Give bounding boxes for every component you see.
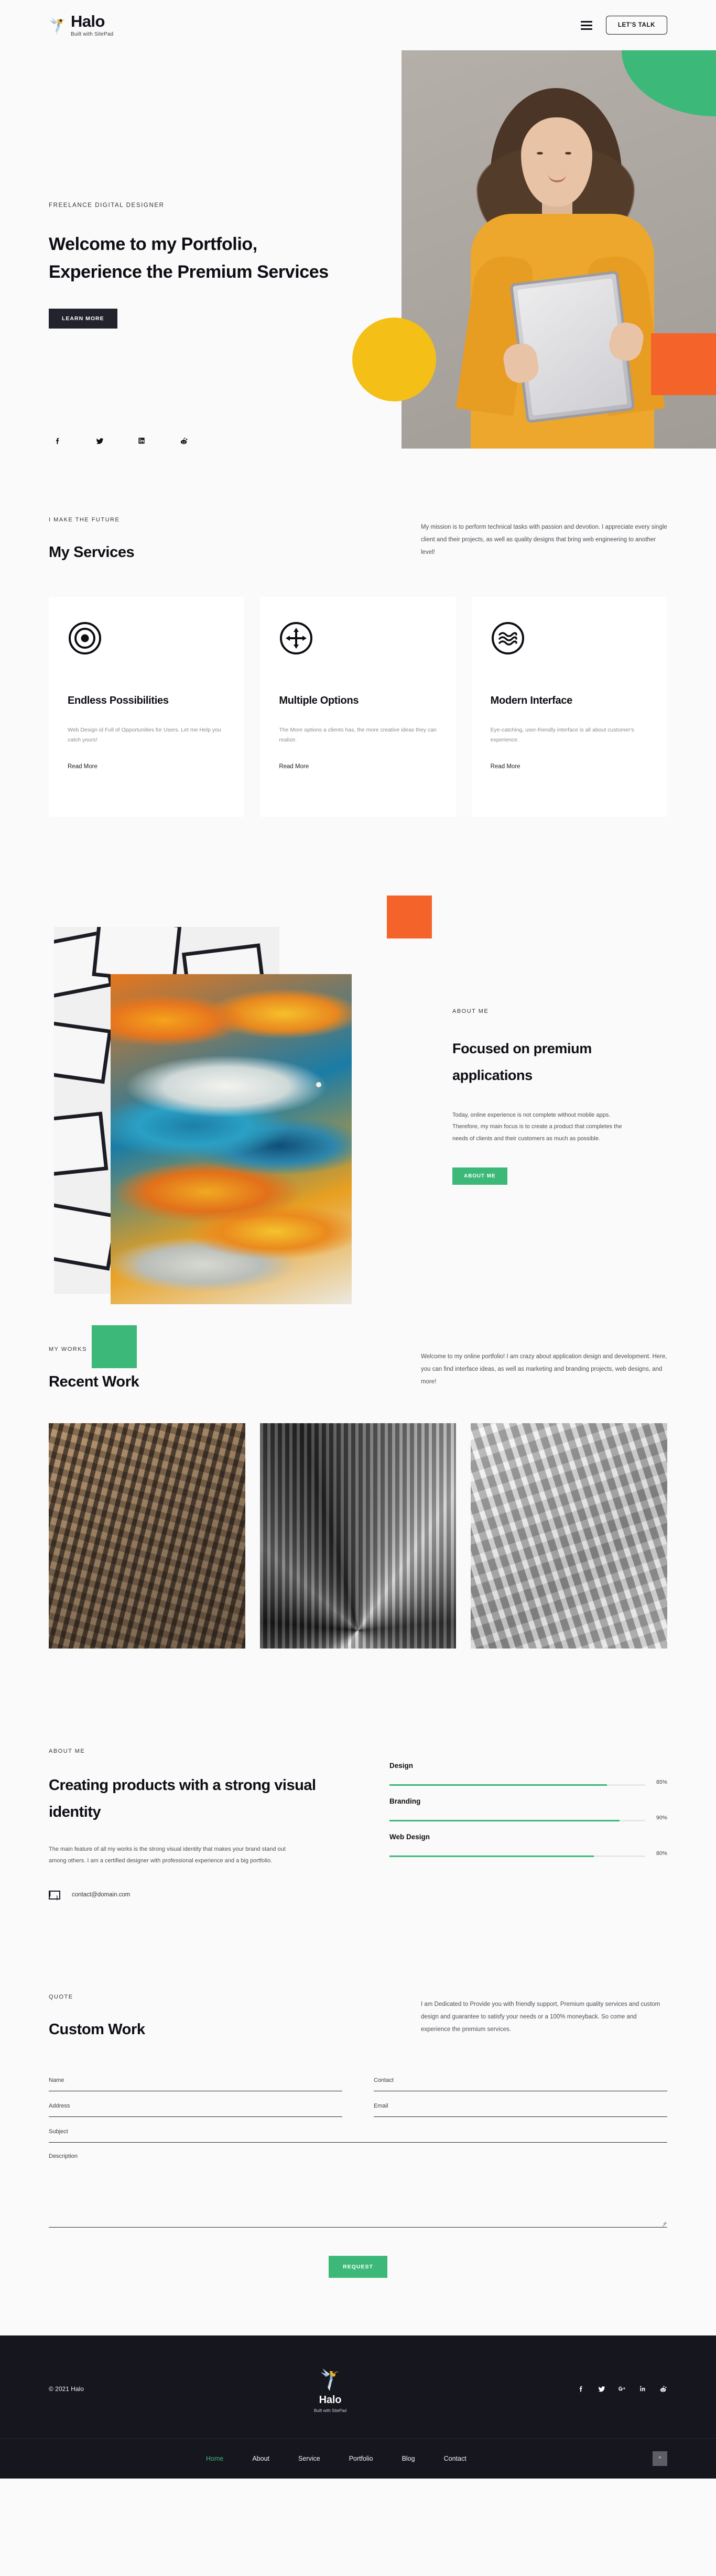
about-title: Focused on premium applications xyxy=(452,1035,631,1089)
hummingbird-logo-icon xyxy=(320,2365,341,2391)
linkedin-icon[interactable] xyxy=(638,2384,647,2393)
hero-eyebrow: FREELANCE DIGITAL DESIGNER xyxy=(49,202,342,209)
decor-yellow-circle xyxy=(352,318,436,401)
twitter-icon[interactable] xyxy=(597,2384,606,2393)
footer-nav-contact[interactable]: Contact xyxy=(444,2455,467,2462)
skill-fill xyxy=(389,1855,594,1857)
service-card-title: Multiple Options xyxy=(279,693,437,708)
skill-label: Branding xyxy=(389,1797,667,1815)
facebook-icon[interactable] xyxy=(577,2384,585,2393)
service-card-title: Modern Interface xyxy=(491,693,648,708)
works-paragraph: Welcome to my online portfolio! I am cra… xyxy=(421,1346,667,1388)
footer-nav: Home About Service Portfolio Blog Contac… xyxy=(0,2438,716,2479)
service-card[interactable]: Endless Possibilities Web Design id Full… xyxy=(49,597,244,817)
brand-tagline: Built with SitePad xyxy=(71,32,113,37)
about-artwork xyxy=(49,896,384,1262)
services-eyebrow: I MAKE THE FUTURE xyxy=(49,517,321,523)
identity-description: The main feature of all my works is the … xyxy=(49,1843,295,1866)
marbled-paint-image xyxy=(111,974,352,1304)
footer-nav-home[interactable]: Home xyxy=(206,2455,223,2462)
contact-form: Name Contact Address Email xyxy=(49,2077,667,2278)
skill-track xyxy=(389,1784,645,1786)
hero-social-links xyxy=(52,435,189,446)
service-card[interactable]: Modern Interface Eye-catching, user-frie… xyxy=(472,597,667,817)
service-card-read-more[interactable]: Read More xyxy=(279,763,309,770)
work-thumbnail[interactable] xyxy=(49,1423,245,1649)
service-card-desc: Eye-catching, user-friendly interface is… xyxy=(491,725,648,746)
services-title: My Services xyxy=(49,544,321,561)
work-thumbnail[interactable] xyxy=(471,1423,667,1649)
email-label: Email xyxy=(374,2103,667,2116)
waves-icon xyxy=(491,621,525,656)
chevron-up-icon[interactable]: ^ xyxy=(653,2451,667,2466)
brand-name: Halo xyxy=(71,13,113,29)
skill-label: Design xyxy=(389,1762,667,1779)
works-eyebrow: MY WORKS xyxy=(49,1346,321,1352)
service-card-desc: The More options a clients has, the more… xyxy=(279,725,437,746)
footer-brand[interactable]: Halo Built with SitePad xyxy=(314,2365,346,2413)
quote-paragraph: I am Dedicated to Provide you with frien… xyxy=(421,1994,667,2036)
brand-logo[interactable]: Halo Built with SitePad xyxy=(49,13,113,37)
address-label: Address xyxy=(49,2103,342,2116)
about-description: Today, online experience is not complete… xyxy=(452,1109,631,1145)
quote-section: QUOTE Custom Work I am Dedicated to Prov… xyxy=(0,1962,716,2335)
skill-percent: 80% xyxy=(652,1850,667,1857)
hamburger-menu-icon[interactable] xyxy=(581,21,592,30)
decor-green-square xyxy=(92,1325,137,1368)
skill-track xyxy=(389,1820,645,1821)
address-field[interactable]: Address xyxy=(49,2103,342,2117)
skill-label: Web Design xyxy=(389,1833,667,1850)
hero-title-line-2: Experience the Premium Services xyxy=(49,258,342,286)
skill-percent: 90% xyxy=(652,1815,667,1821)
request-button[interactable]: REQUEST xyxy=(329,2256,387,2278)
target-rings-icon xyxy=(68,621,102,656)
learn-more-button[interactable]: LEARN MORE xyxy=(49,309,117,329)
service-card-desc: Web Design id Full of Opportunities for … xyxy=(68,725,225,746)
twitter-icon[interactable] xyxy=(94,435,105,446)
footer-copyright: © 2021 Halo xyxy=(49,2385,84,2393)
reddit-icon[interactable] xyxy=(178,435,189,446)
contact-email-text: contact@domain.com xyxy=(72,1892,130,1898)
description-label: Description xyxy=(49,2153,667,2167)
skill-fill xyxy=(389,1820,620,1821)
services-paragraph: My mission is to perform technical tasks… xyxy=(421,517,667,559)
move-arrows-icon xyxy=(279,621,313,656)
footer-nav-about[interactable]: About xyxy=(252,2455,269,2462)
reddit-icon[interactable] xyxy=(658,2384,667,2393)
footer-nav-portfolio[interactable]: Portfolio xyxy=(349,2455,373,2462)
quote-eyebrow: QUOTE xyxy=(49,1994,321,2000)
work-thumbnail[interactable] xyxy=(260,1423,457,1649)
skill-item: Web Design 80% xyxy=(389,1833,667,1857)
service-card[interactable]: Multiple Options The More options a clie… xyxy=(260,597,455,817)
skill-bars: Design 85% Branding 90% xyxy=(389,1748,667,1900)
identity-title: Creating products with a strong visual i… xyxy=(49,1772,363,1826)
facebook-icon[interactable] xyxy=(52,435,63,446)
description-field[interactable]: Description xyxy=(49,2153,667,2228)
site-header: Halo Built with SitePad LET'S TALK xyxy=(0,0,716,50)
linkedin-icon[interactable] xyxy=(136,435,147,446)
email-field[interactable]: Email xyxy=(374,2103,667,2117)
services-section: I MAKE THE FUTURE My Services My mission… xyxy=(0,449,716,817)
subject-label: Subject xyxy=(49,2129,667,2142)
skill-percent: 85% xyxy=(652,1779,667,1786)
work-gallery xyxy=(49,1423,667,1649)
footer-nav-blog[interactable]: Blog xyxy=(402,2455,415,2462)
identity-eyebrow: ABOUT ME xyxy=(49,1748,363,1754)
about-section: ABOUT ME Focused on premium applications… xyxy=(0,817,716,1325)
service-card-title: Endless Possibilities xyxy=(68,693,225,708)
footer-social-links xyxy=(577,2384,667,2393)
skill-fill xyxy=(389,1784,607,1786)
footer-brand-name: Halo xyxy=(319,2394,342,2406)
about-me-button[interactable]: ABOUT ME xyxy=(452,1167,507,1185)
site-footer: © 2021 Halo Halo Built with SiteP xyxy=(0,2335,716,2479)
skill-track xyxy=(389,1855,645,1857)
service-card-read-more[interactable]: Read More xyxy=(68,763,97,770)
quote-title: Custom Work xyxy=(49,2021,321,2038)
hero-section: FREELANCE DIGITAL DESIGNER Welcome to my… xyxy=(0,50,716,449)
google-plus-icon[interactable] xyxy=(617,2384,626,2393)
service-card-read-more[interactable]: Read More xyxy=(491,763,520,770)
skill-item: Branding 90% xyxy=(389,1797,667,1821)
hummingbird-logo-icon xyxy=(49,14,67,35)
works-section: MY WORKS Recent Work Welcome to my onlin… xyxy=(0,1325,716,1717)
footer-brand-tagline: Built with SitePad xyxy=(314,2408,346,2413)
identity-section: ABOUT ME Creating products with a strong… xyxy=(0,1717,716,1962)
subject-field[interactable]: Subject xyxy=(49,2129,667,2143)
page-root: Halo Built with SitePad LET'S TALK xyxy=(0,0,716,2479)
skill-item: Design 85% xyxy=(389,1762,667,1786)
name-label: Name xyxy=(49,2077,342,2091)
footer-nav-service[interactable]: Service xyxy=(298,2455,320,2462)
contact-label: Contact xyxy=(374,2077,667,2091)
lets-talk-button[interactable]: LET'S TALK xyxy=(606,16,667,35)
contact-field[interactable]: Contact xyxy=(374,2077,667,2091)
service-cards: Endless Possibilities Web Design id Full… xyxy=(49,597,667,817)
decor-orange-square xyxy=(387,896,432,938)
resize-handle-icon[interactable] xyxy=(662,2221,667,2226)
hero-title-line-1: Welcome to my Portfolio, xyxy=(49,231,342,258)
contact-email-row[interactable]: contact@domain.com xyxy=(49,1891,363,1900)
decor-orange-square xyxy=(651,333,716,395)
name-field[interactable]: Name xyxy=(49,2077,342,2091)
envelope-icon xyxy=(49,1891,60,1900)
works-title: Recent Work xyxy=(49,1373,321,1391)
about-eyebrow: ABOUT ME xyxy=(452,1008,631,1014)
